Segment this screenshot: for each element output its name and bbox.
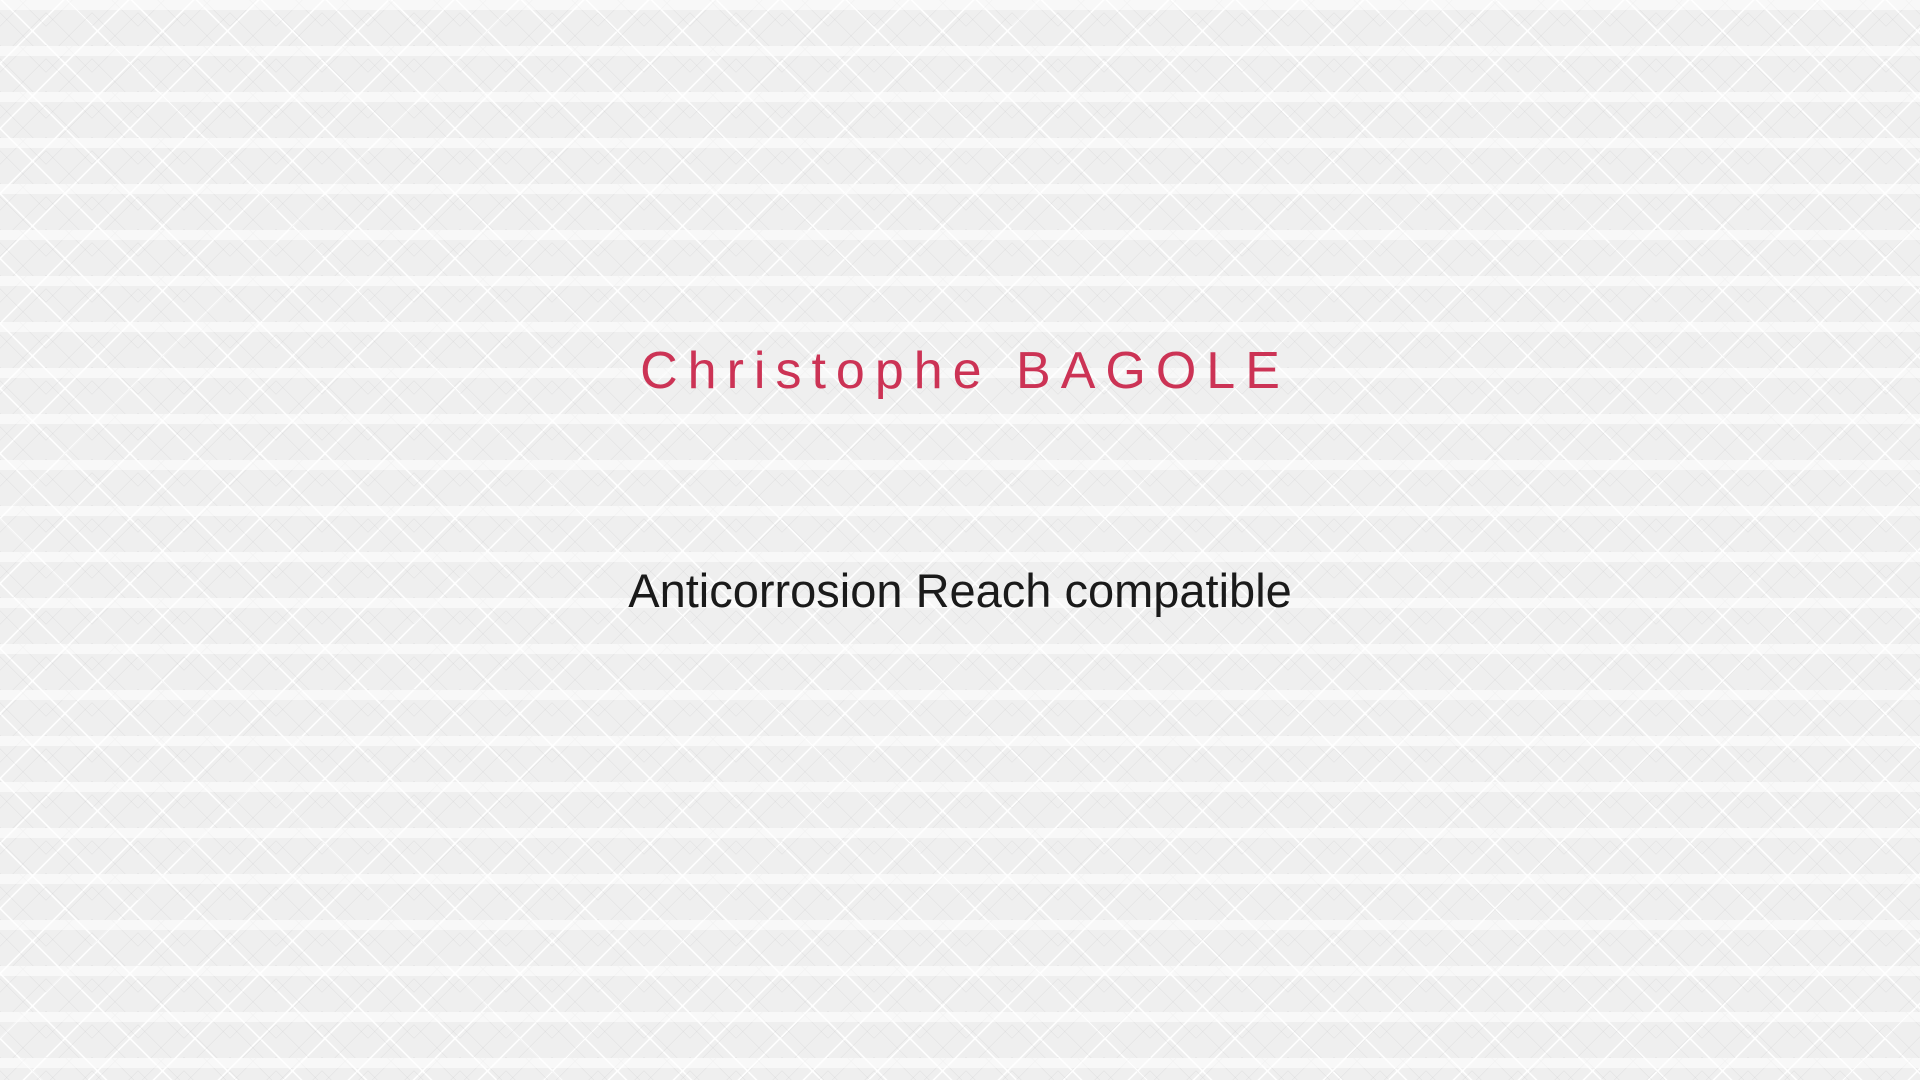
slide-content: Christophe BAGOLE Anticorrosion Reach co… [0, 0, 1920, 1080]
slide-subtitle: Anticorrosion Reach compatible [0, 562, 1920, 620]
slide-title: Christophe BAGOLE [0, 340, 1920, 402]
presentation-slide: Christophe BAGOLE Anticorrosion Reach co… [0, 0, 1920, 1080]
